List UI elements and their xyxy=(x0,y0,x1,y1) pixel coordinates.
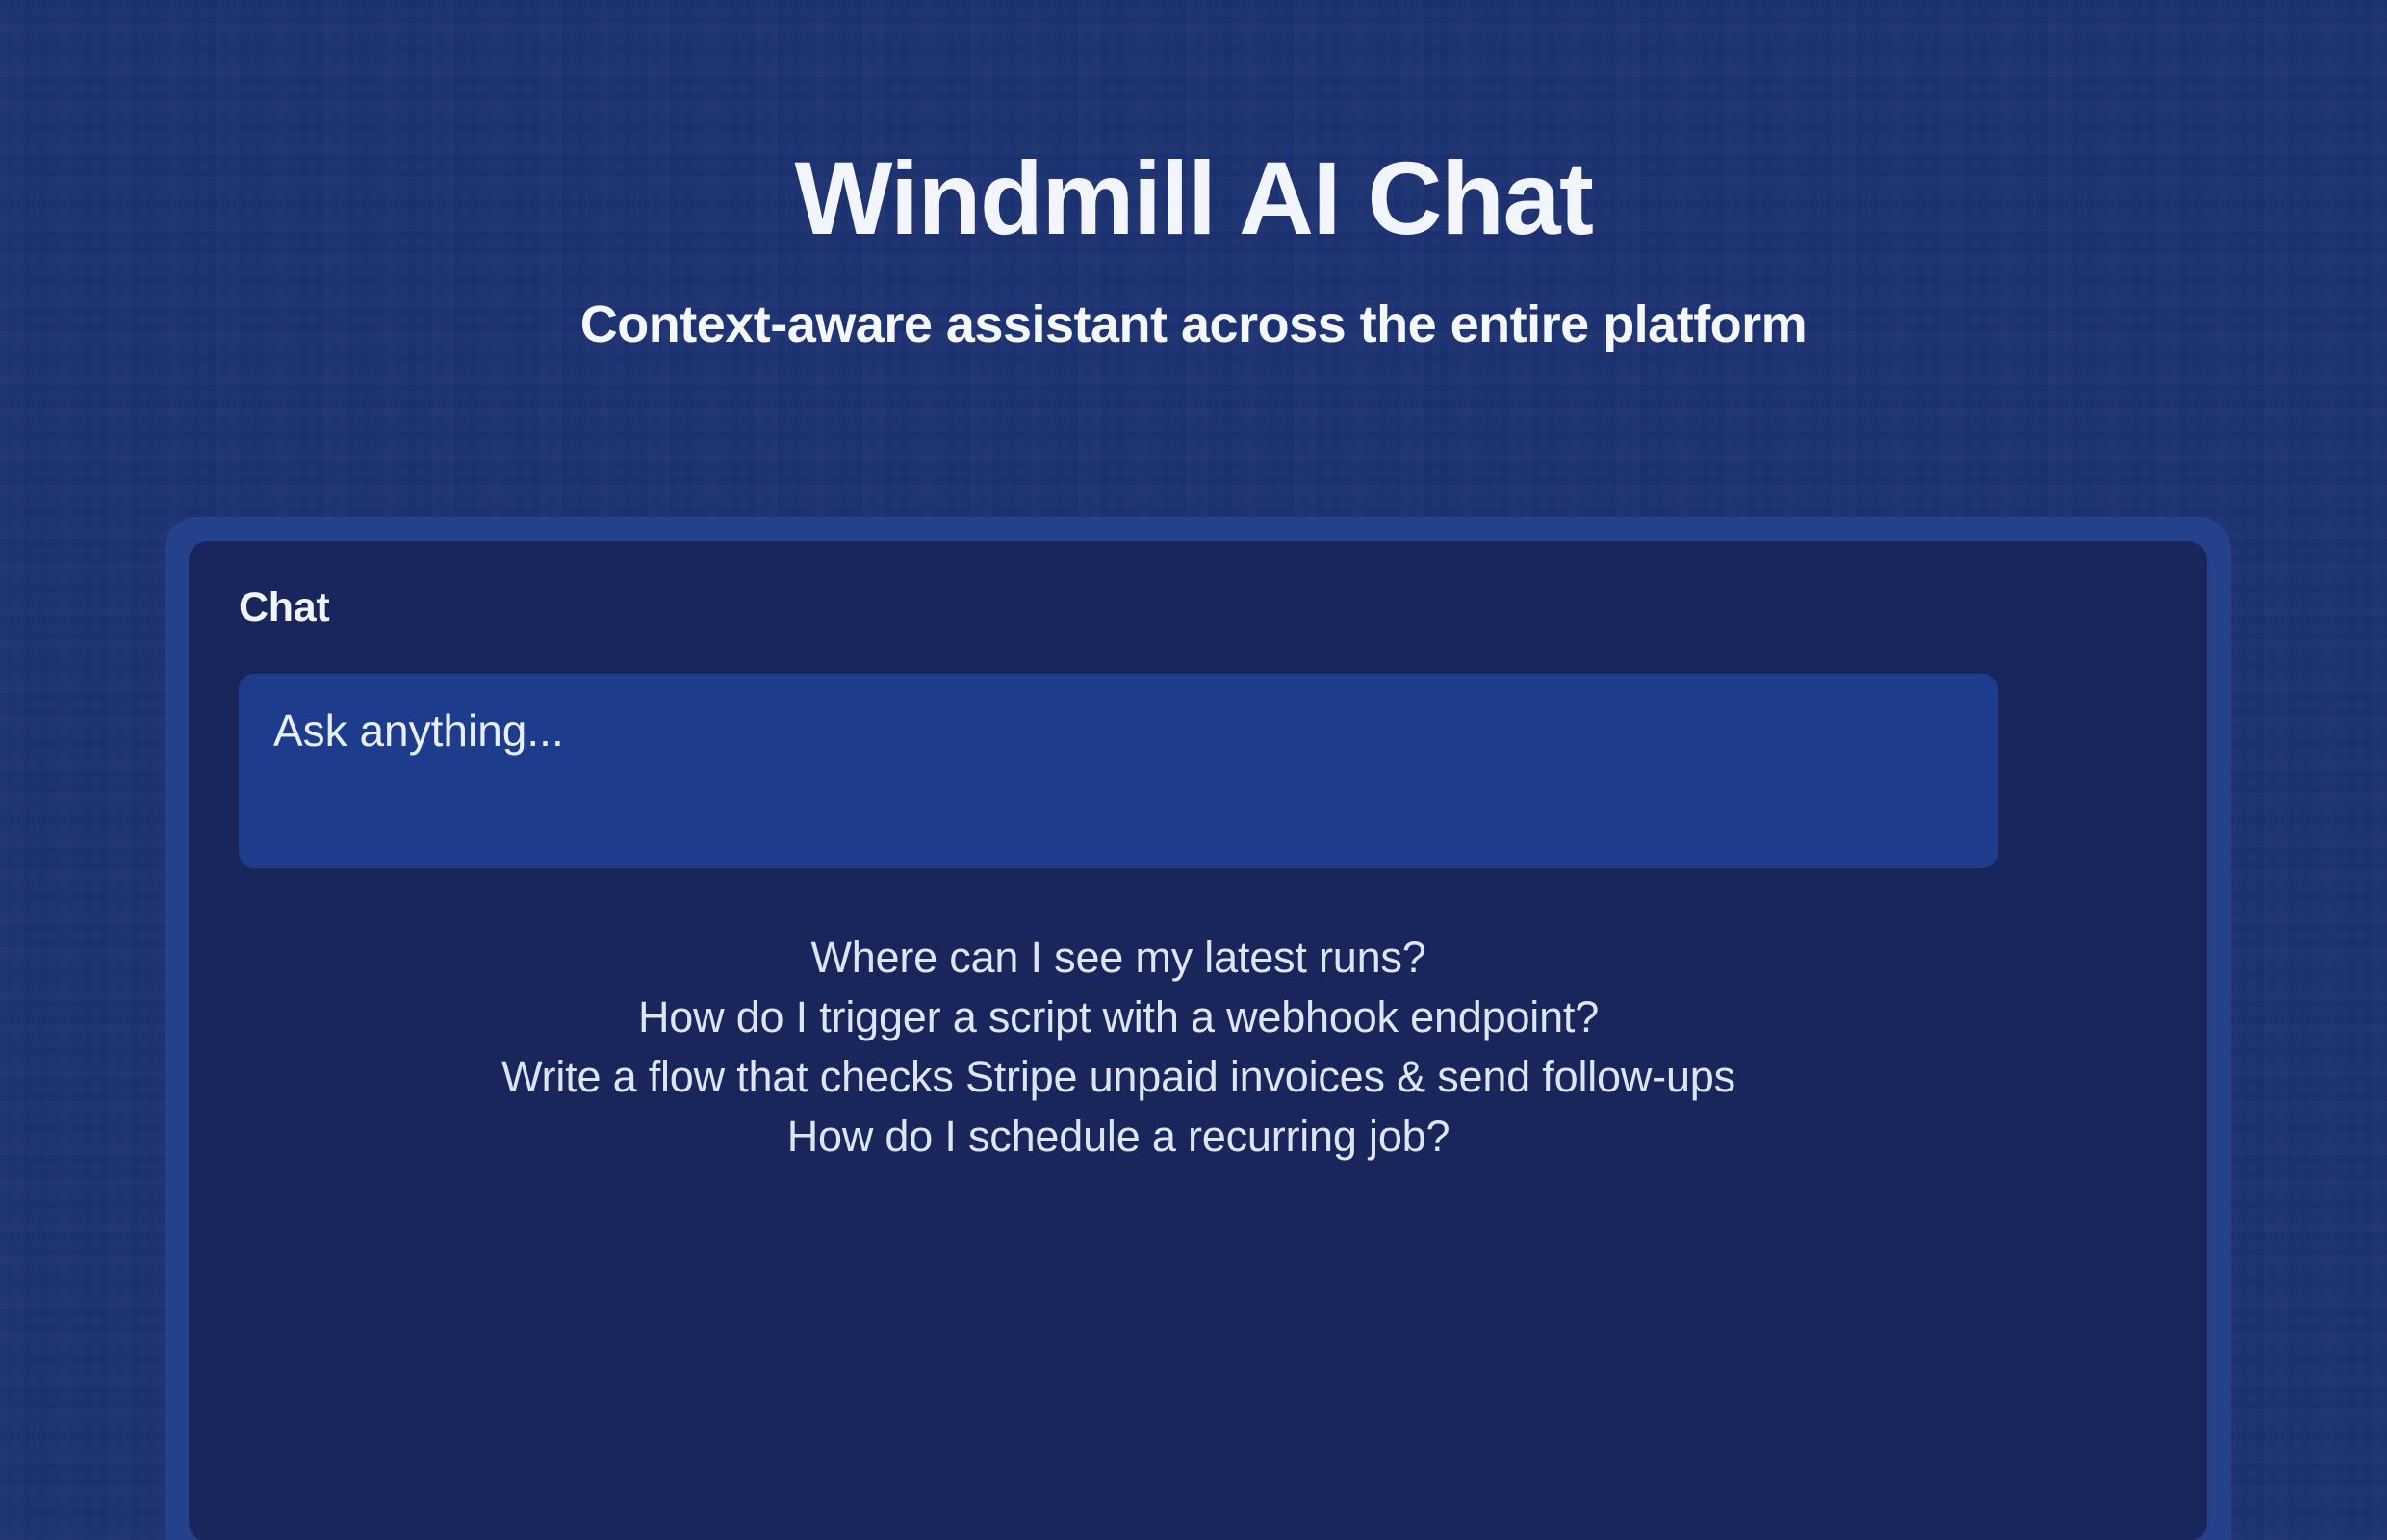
page-subtitle: Context-aware assistant across the entir… xyxy=(0,250,2387,350)
suggestion-item[interactable]: How do I schedule a recurring job? xyxy=(239,1107,1998,1167)
app-root: Windmill AI Chat Context-aware assistant… xyxy=(0,0,2387,1540)
suggestion-item[interactable]: Write a flow that checks Stripe unpaid i… xyxy=(239,1047,1998,1107)
page-header: Windmill AI Chat Context-aware assistant… xyxy=(0,0,2387,350)
suggestion-item[interactable]: How do I trigger a script with a webhook… xyxy=(239,988,1998,1047)
chat-card: Chat Where can I see my latest runs? How… xyxy=(165,517,2231,1540)
chat-section-heading: Chat xyxy=(239,587,2157,629)
suggestion-list: Where can I see my latest runs? How do I… xyxy=(239,928,1998,1167)
suggestion-item[interactable]: Where can I see my latest runs? xyxy=(239,928,1998,988)
chat-panel: Chat Where can I see my latest runs? How… xyxy=(189,541,2207,1540)
chat-input[interactable] xyxy=(239,674,1998,868)
page-title: Windmill AI Chat xyxy=(0,0,2387,250)
